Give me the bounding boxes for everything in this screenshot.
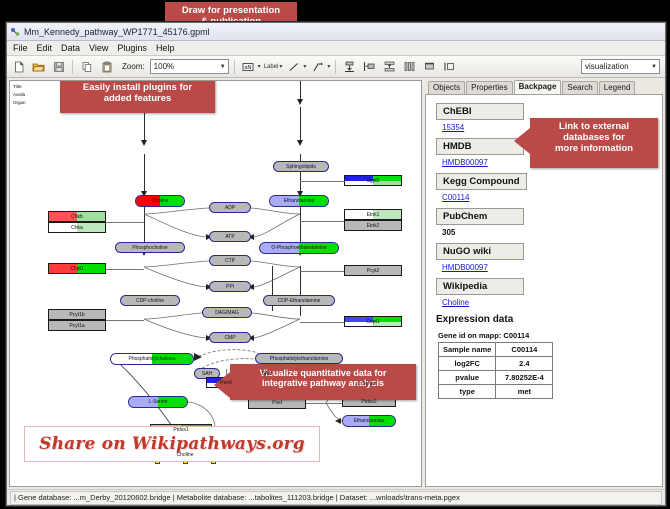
expr-val-sample: C00114 [496, 343, 553, 357]
callout-plugins-text: Easily install plugins for added feature… [83, 82, 192, 104]
pathway-node-adp[interactable]: ADP [209, 202, 251, 213]
tab-search[interactable]: Search [562, 81, 597, 94]
db-title-pubchem: PubChem [436, 208, 524, 225]
pathway-gene-chpt1[interactable]: Chpt1 [48, 263, 106, 274]
interaction-arrow-icon[interactable] [309, 58, 326, 75]
chevron-down-icon-interaction[interactable]: ▾ [327, 63, 330, 70]
expr-key-pvalue: pvalue [439, 371, 496, 385]
callout-visualize: Visualize quantitative data for integrat… [230, 364, 416, 400]
pathway-gene-pcyt1b[interactable]: Pcyt1b [48, 309, 106, 320]
pathway-node-atp[interactable]: ATP [209, 231, 251, 242]
pathway-node-label: SAM [262, 371, 273, 377]
pathway-gene-label: Etnk2 [367, 223, 380, 229]
pathway-node-label: O-Phosphoethanolamine [271, 245, 326, 251]
expr-val-log2fc: 2.4 [496, 357, 553, 371]
share-banner: Share on Wikipathways.org [24, 426, 320, 462]
pathway-node-label: Phosphatidylethanolamine [270, 356, 329, 362]
callout-link: Link to external databases for more info… [530, 118, 658, 168]
share-banner-text: Share on Wikipathways.org [39, 434, 305, 454]
expression-data-heading: Expression data [436, 314, 662, 325]
pathway-node-label: ATP [225, 234, 234, 240]
svg-text:aN: aN [245, 65, 252, 71]
line-tool[interactable]: ▾ [285, 58, 306, 75]
toolbar-separator [72, 60, 73, 74]
pathway-node-cdp-choline[interactable]: CDP-choline [120, 295, 180, 306]
screenshot-root: Draw for presentation & publication Mm_K… [0, 0, 670, 509]
pathway-node-phosphatidyleth[interactable]: Phosphatidylethanolamine [255, 353, 343, 364]
pathway-node-phosphatidylch[interactable]: Phosphatidylcholines [110, 353, 194, 365]
pathway-node-label: CDP-Ethanolamine [278, 298, 321, 304]
pathvisio-icon [10, 27, 20, 37]
pathway-node-phosphocholine[interactable]: Phosphocholine [115, 242, 185, 253]
pathway-node-ppi[interactable]: PPi [209, 281, 251, 292]
pathway-node-dagmag[interactable]: DAG/MAG [202, 307, 252, 318]
align-left-icon[interactable] [361, 58, 378, 75]
menu-item-help[interactable]: Help [155, 43, 176, 53]
table-row: type met [439, 385, 553, 399]
tab-objects[interactable]: Objects [428, 81, 465, 94]
datanode-tool[interactable]: aN ▾ [240, 58, 261, 75]
new-file-icon[interactable] [10, 58, 27, 75]
pathway-gene-label: Sgpl1 [367, 178, 380, 184]
pathway-node-label: Phosphatidylcholines [129, 356, 176, 362]
db-link-kegg[interactable]: C00114 [442, 193, 662, 202]
pathway-gene-pcyt1a[interactable]: Pcyt1a [48, 320, 106, 331]
pathway-node-label: Phosphocholine [132, 245, 168, 251]
chevron-down-icon-visualization: ▼ [651, 64, 657, 70]
align-top-icon[interactable] [341, 58, 358, 75]
menu-bar: File Edit Data View Plugins Help [7, 41, 665, 56]
pathway-gene-label: Etnk1 [367, 212, 380, 218]
stack-vertical-icon[interactable] [381, 58, 398, 75]
db-block-kegg: Kegg Compound C00114 [436, 171, 662, 202]
status-bar-text: | Gene database: ...m_Derby_20120602.bri… [10, 491, 662, 505]
pathway-node-ethanolamine[interactable]: Ethanolamine [269, 195, 329, 207]
pathway-node-o-phosphoeth[interactable]: O-Phosphoethanolamine [259, 242, 339, 254]
pathway-gene-pcyt2[interactable]: Pcyt2 [344, 265, 402, 276]
toolbar-separator-2 [234, 60, 235, 74]
callout-link-text: Link to external databases for more info… [555, 121, 633, 154]
pathway-gene-label: Ptdss2 [361, 399, 376, 405]
pathway-gene-label: Ptdss1 [173, 427, 188, 433]
db-title-hmdb: HMDB [436, 138, 524, 155]
group-icon[interactable] [421, 58, 438, 75]
label-tool[interactable]: Label ▾ [264, 63, 283, 70]
pathway-node-label: DAG/MAG [215, 310, 239, 316]
pathway-node-label: CDP-choline [136, 298, 164, 304]
pathway-gene-label: Chka [71, 225, 83, 231]
menu-item-plugins[interactable]: Plugins [116, 43, 148, 53]
pathway-node-l-serine-left[interactable]: L-Serine [128, 396, 188, 408]
expr-val-pvalue: 7.80252E-4 [496, 371, 553, 385]
pathway-node-label: L-Serine [358, 381, 377, 387]
toolbar-separator-3 [335, 60, 336, 74]
table-row: log2FC 2.4 [439, 357, 553, 371]
application-window: Mm_Kennedy_pathway_WP1771_45176.gpml Fil… [6, 22, 666, 506]
zoom-label: Zoom: [122, 62, 145, 71]
menu-item-edit[interactable]: Edit [36, 43, 54, 53]
callout-link-arrow-icon [514, 128, 530, 154]
pathway-gene-cept1[interactable]: Cept1 [344, 316, 402, 327]
pathway-node-cdp-ethanolamine[interactable]: CDP-Ethanolamine [263, 295, 335, 306]
menu-item-data[interactable]: Data [60, 43, 81, 53]
chevron-down-icon: ▼ [220, 64, 226, 70]
db-title-nugo: NuGO wiki [436, 243, 524, 260]
pathway-node-label: CTP [225, 258, 235, 264]
tab-properties[interactable]: Properties [466, 81, 512, 94]
table-row: pvalue 7.80252E-4 [439, 371, 553, 385]
side-panel-tabs: Objects Properties Backpage Search Legen… [425, 80, 663, 94]
window-title: Mm_Kennedy_pathway_WP1771_45176.gpml [24, 27, 210, 37]
expression-table: Sample name C00114 log2FC 2.4 pvalue 7.8… [438, 342, 553, 399]
db-block-nugo: NuGO wiki HMDB00097 [436, 241, 662, 272]
pathway-node-label: CMP [224, 335, 235, 341]
pathway-gene-sgpl1[interactable]: Sgpl1 [344, 175, 402, 186]
db-block-pubchem: PubChem 305 [436, 206, 662, 237]
pathway-node-label: Ethanolamine [284, 198, 315, 204]
pathway-node-ctp[interactable]: CTP [209, 255, 251, 266]
zoom-value: 100% [154, 62, 174, 71]
title-bar: Mm_Kennedy_pathway_WP1771_45176.gpml [7, 23, 665, 41]
pathway-node-label: Sphingolipids [286, 164, 316, 170]
pathway-node-label: SAH [202, 371, 212, 377]
db-title-wikipedia: Wikipedia [436, 278, 524, 295]
visualization-combo[interactable]: visualization ▼ [581, 59, 660, 74]
pathway-node-label: ADP [225, 205, 235, 211]
db-link-wikipedia[interactable]: Choline [442, 298, 662, 307]
chevron-down-icon-datanode[interactable]: ▾ [258, 63, 261, 70]
pathway-gene-label: Pemt [220, 380, 232, 386]
pathway-gene-label: Cept1 [366, 319, 379, 325]
pathway-gene-etnk2[interactable]: Etnk2 [344, 220, 402, 231]
pathway-node-label: Choline [177, 452, 194, 458]
zoom-combo[interactable]: 100% ▼ [150, 59, 229, 74]
pathway-node-label: Choline [152, 198, 169, 204]
db-block-wikipedia: Wikipedia Choline [436, 276, 662, 307]
chevron-down-icon-line[interactable]: ▾ [303, 63, 306, 70]
pathway-gene-label: Pisd [272, 400, 282, 406]
pathway-gene-label: Pcyt2 [367, 268, 380, 274]
table-row: Sample name C00114 [439, 343, 553, 357]
distribute-icon[interactable] [401, 58, 418, 75]
save-file-icon[interactable] [50, 58, 67, 75]
visualization-value: visualization [585, 62, 629, 71]
pathway-node-cmp[interactable]: CMP [209, 332, 251, 343]
pathway-node-ethanolamine-b[interactable]: Ethanolamine [342, 415, 396, 427]
db-title-kegg: Kegg Compound [436, 173, 527, 190]
tab-legend[interactable]: Legend [599, 81, 636, 94]
expr-key-type: type [439, 385, 496, 399]
copy-icon[interactable] [78, 58, 95, 75]
db-title-chebi: ChEBI [436, 103, 524, 120]
expr-key-log2fc: log2FC [439, 357, 496, 371]
pathway-gene-chka[interactable]: Chka [48, 222, 106, 233]
pathway-gene-label: Pcyt1b [69, 312, 84, 318]
pathway-gene-etnk1[interactable]: Etnk1 [344, 209, 402, 220]
pathway-gene-label: Pcyt1a [69, 323, 84, 329]
gene-id-on-mapp: Gene id on mapp: C00114 [438, 331, 662, 340]
expr-val-type: met [496, 385, 553, 399]
status-bar: | Gene database: ...m_Derby_20120602.bri… [7, 489, 665, 505]
pathway-gene-label: Chpt1 [70, 266, 83, 272]
interaction-tool[interactable]: ▾ [309, 58, 330, 75]
pathway-node-label: L-Serine [149, 399, 168, 405]
callout-plugins: Easily install plugins for added feature… [60, 80, 215, 113]
chevron-down-icon-label[interactable]: ▾ [279, 63, 282, 70]
pathway-node-label: Ethanolamine [354, 418, 385, 424]
pathway-node-choline-top[interactable]: Choline [135, 195, 185, 207]
ungroup-icon[interactable] [441, 58, 458, 75]
pathway-node-label: PPi [226, 284, 234, 290]
db-value-pubchem: 305 [442, 228, 662, 237]
db-link-nugo[interactable]: HMDB00097 [442, 263, 662, 272]
paste-icon[interactable] [98, 58, 115, 75]
menu-item-file[interactable]: File [12, 43, 29, 53]
pathway-canvas[interactable]: Title: Availa Organ [9, 80, 422, 487]
datanode-icon[interactable]: aN [240, 58, 257, 75]
open-file-icon[interactable] [30, 58, 47, 75]
pathway-gene-label: Chkb [71, 214, 83, 220]
tab-backpage[interactable]: Backpage [514, 80, 562, 94]
menu-item-view[interactable]: View [88, 43, 109, 53]
expr-key-sample: Sample name [439, 343, 496, 357]
pathway-node-sphingolipids[interactable]: Sphingolipids [273, 161, 329, 172]
line-icon[interactable] [285, 58, 302, 75]
label-tool-text: Label [264, 64, 279, 70]
pathway-gene-chkb[interactable]: Chkb [48, 211, 106, 222]
tool-bar: Zoom: 100% ▼ aN ▾ Label ▾ ▾ [7, 56, 665, 78]
